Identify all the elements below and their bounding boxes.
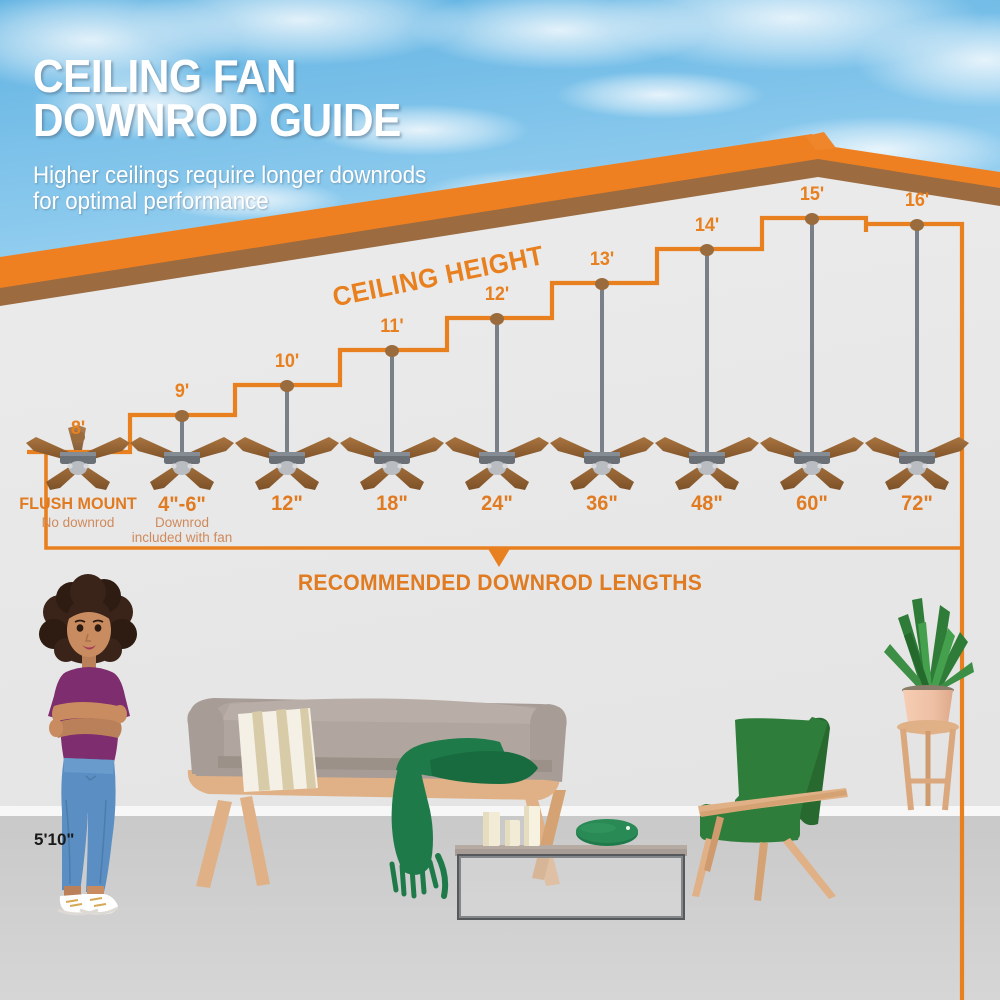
ceiling-height-label-13ft: 13': [590, 249, 614, 271]
fan-canopy: [175, 410, 189, 422]
downrod-note-flush-mount: No downrod: [42, 515, 115, 530]
downrod-note-line-1: Downrod: [132, 515, 233, 530]
ceiling-height-label-12ft: 12': [485, 284, 509, 306]
fan-light-kit: [488, 461, 506, 475]
downrod: [180, 418, 184, 452]
downrod: [705, 252, 709, 452]
title-line-2: DOWNROD GUIDE: [33, 98, 511, 142]
green-bowl: [576, 819, 638, 846]
downrod-label-24in: 24": [481, 492, 513, 516]
fan-light-kit: [698, 461, 716, 475]
page-title: CEILING FAN DOWNROD GUIDE: [33, 54, 511, 142]
coffee-table: [455, 845, 687, 918]
downrod: [915, 227, 919, 452]
downrod: [390, 353, 394, 452]
page-subtitle: Higher ceilings require longer downrods …: [33, 163, 470, 215]
downrod-label-flush-mount: FLUSH MOUNT: [19, 494, 137, 514]
downrod-label-18in: 18": [376, 492, 408, 516]
infographic-canvas: CEILING FAN DOWNROD GUIDE Higher ceiling…: [0, 0, 1000, 1000]
fan-canopy: [595, 278, 609, 290]
downrod-label-48in: 48": [691, 492, 723, 516]
fan-canopy: [805, 213, 819, 225]
fan-canopy: [490, 313, 504, 325]
fan-canopy: [280, 380, 294, 392]
ceiling-height-label-10ft: 10': [275, 351, 299, 373]
fan-canopy: [700, 244, 714, 256]
fan-canopy: [385, 345, 399, 357]
fan-light-kit: [908, 461, 926, 475]
downrod-label-72in: 72": [901, 492, 933, 516]
downrod: [600, 286, 604, 452]
fan-light-kit: [278, 461, 296, 475]
ceiling-height-label-15ft: 15': [800, 184, 824, 206]
downrod-label-36in: 36": [586, 492, 618, 516]
downrod-note-line-1: No downrod: [42, 515, 115, 530]
downrod-note-4-6in: Downrod included with fan: [132, 515, 233, 545]
subtitle-line-2: for optimal performance: [33, 189, 470, 215]
fan-light-kit: [593, 461, 611, 475]
person-height-label: 5'10": [34, 830, 74, 850]
fan-canopy: [910, 219, 924, 231]
ceiling-height-label-9ft: 9': [175, 381, 189, 403]
fan-light-kit: [69, 461, 87, 475]
downrod: [285, 388, 289, 452]
ceiling-height-label-11ft: 11': [380, 316, 403, 338]
downrod-label-4-6in: 4"-6": [158, 493, 206, 517]
ceiling-height-label-16ft: 16': [905, 190, 929, 212]
ceiling-height-label-14ft: 14': [695, 215, 719, 237]
recommended-downrod-lengths-caption: RECOMMENDED DOWNROD LENGTHS: [298, 570, 702, 596]
striped-pillow: [238, 708, 318, 792]
downrod-note-line-2: included with fan: [132, 530, 233, 545]
downrod-label-12in: 12": [271, 492, 303, 516]
fan-light-kit: [383, 461, 401, 475]
fan-light-kit: [173, 461, 191, 475]
ceiling-height-label-8ft: 8': [71, 418, 85, 440]
subtitle-line-1: Higher ceilings require longer downrods: [33, 163, 470, 189]
downrod-label-60in: 60": [796, 492, 828, 516]
fan-light-kit: [803, 461, 821, 475]
downrod: [810, 221, 814, 452]
title-line-1: CEILING FAN: [33, 54, 511, 98]
downrod: [495, 321, 499, 452]
